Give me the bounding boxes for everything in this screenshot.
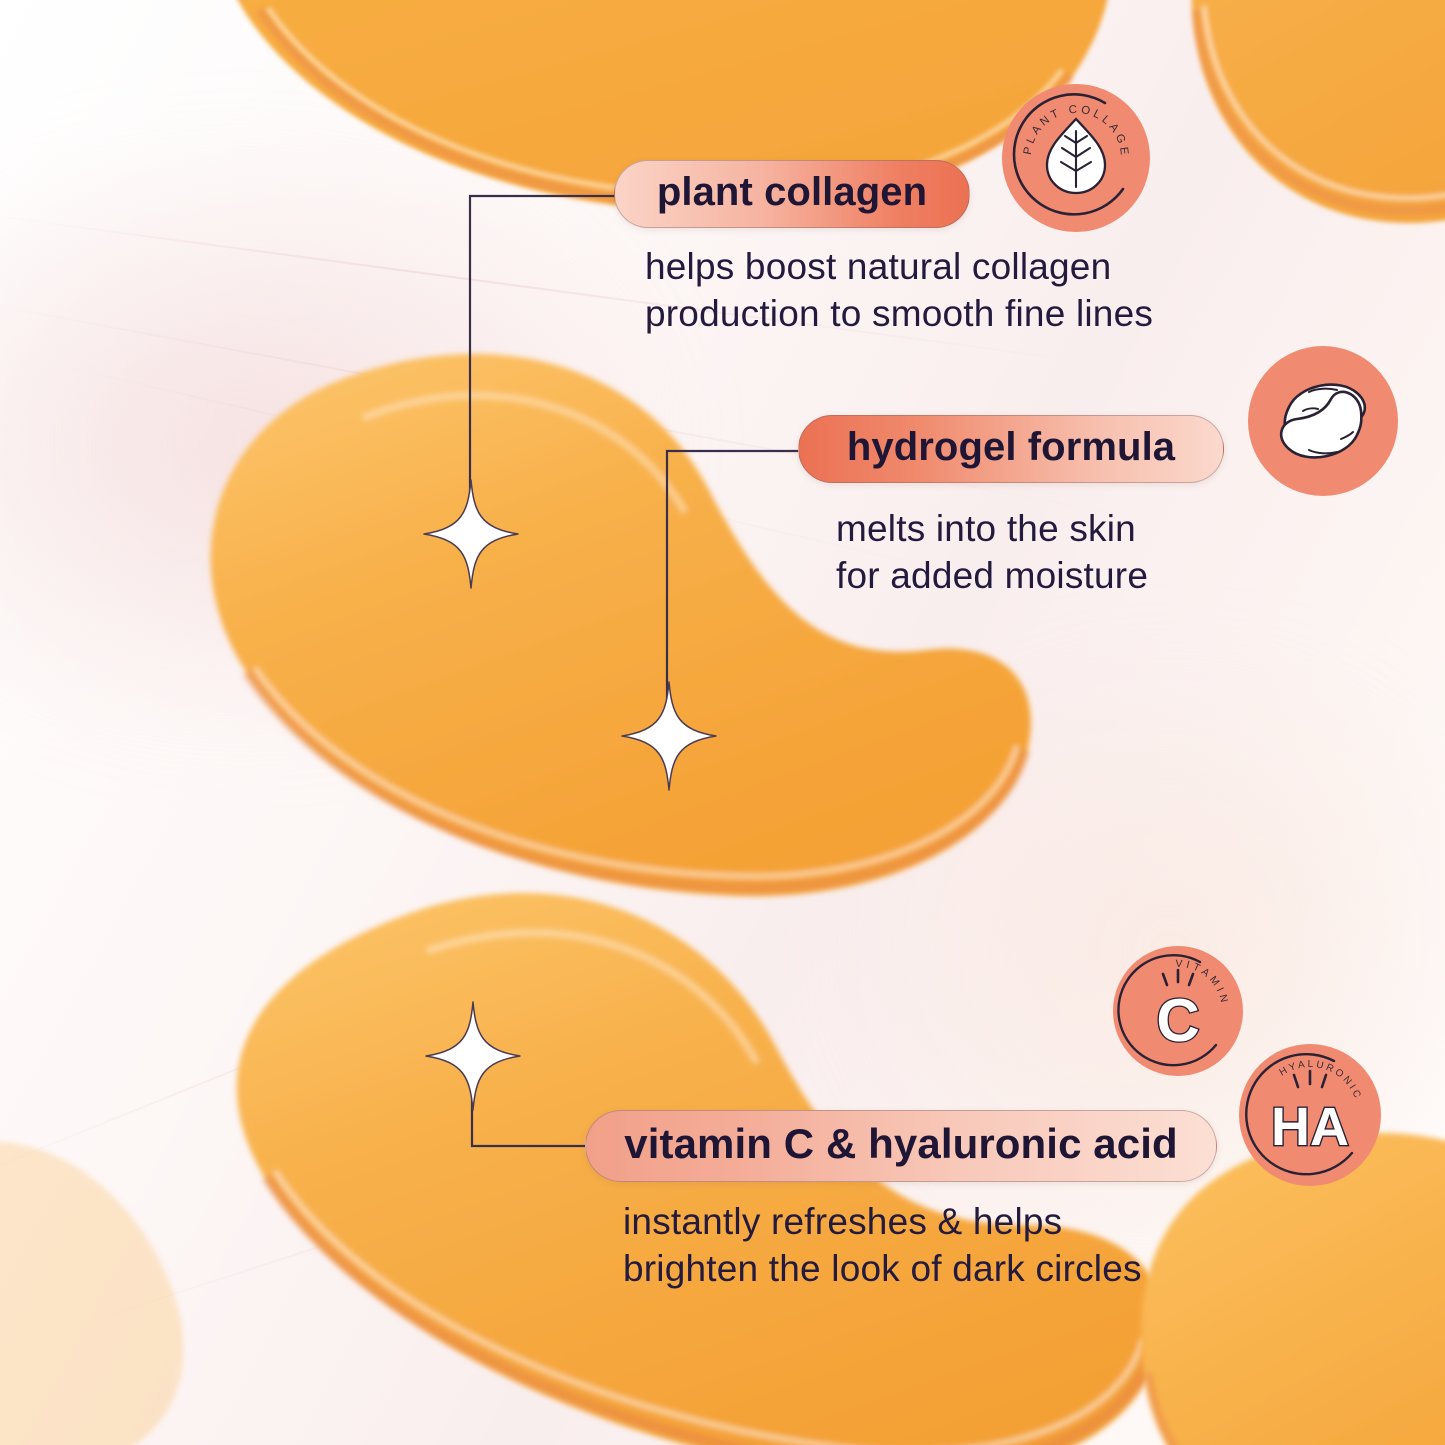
description-line: instantly refreshes & helps [623,1198,1142,1245]
feature-description-vitamin-c: instantly refreshes & helps brighten the… [623,1198,1142,1293]
feature-description-plant-collagen: helps boost natural collagen production … [645,243,1153,338]
feature-pill-label: plant collagen [657,172,927,216]
four-point-star-icon [424,1000,522,1112]
gel-eye-patch [1190,0,1445,300]
feature-pill-plant-collagen[interactable]: plant collagen [614,160,970,228]
feature-description-hydrogel-formula: melts into the skin for added moisture [836,505,1148,600]
badge-letters: HA [1271,1097,1349,1157]
description-line: production to smooth fine lines [645,290,1153,337]
badge-letters: C [1156,987,1199,1054]
description-line: brighten the look of dark circles [623,1245,1142,1292]
gel-eye-patch-sliver [0,1105,240,1445]
description-line: melts into the skin [836,505,1148,552]
connector-line-hydrogel [665,450,815,710]
description-line: helps boost natural collagen [645,243,1153,290]
four-point-star-icon [620,680,718,792]
vitamin-c-badge: C VITAMIN [1112,945,1245,1078]
plant-collagen-badge: PLANT COLLAGEN [1001,83,1151,233]
background-streak [60,1138,650,1331]
feature-pill-vitamin-c-hyaluronic-acid[interactable]: vitamin C & hyaluronic acid [585,1110,1217,1182]
feature-pill-hydrogel-formula[interactable]: hydrogel formula [798,415,1224,483]
background-wash-pink [0,120,700,760]
background-streak [0,918,609,1182]
feature-pill-label: vitamin C & hyaluronic acid [624,1123,1178,1169]
feature-pill-label: hydrogel formula [847,427,1175,471]
hyaluronic-acid-badge: HA HYALURONIC [1238,1043,1383,1188]
four-point-star-icon [422,478,520,590]
connector-line-plant-collagen [468,195,628,505]
product-infographic: plant collagen hydrogel formula vitamin … [0,0,1445,1445]
hydrogel-badge [1247,345,1399,497]
description-line: for added moisture [836,552,1148,599]
